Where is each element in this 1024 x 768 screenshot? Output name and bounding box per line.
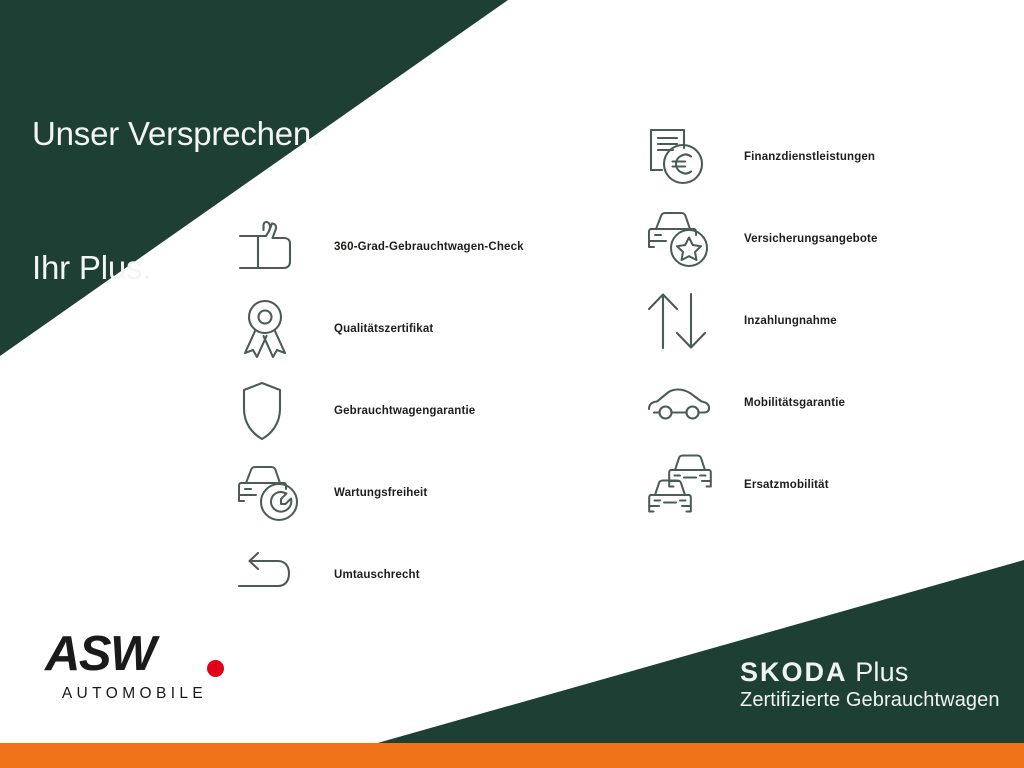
feature-label: Mobilitätsgarantie (722, 397, 845, 409)
asw-wordmark-text: ASW (45, 627, 155, 681)
feature-list-right: Finanzdienstleistungen Versicherungsange… (646, 116, 878, 526)
feature-item-wartungsfreiheit: Wartungsfreiheit (236, 452, 524, 534)
feature-label: Versicherungsangebote (722, 233, 878, 245)
skoda-plus-text: Plus (848, 657, 909, 687)
asw-red-dot-icon (207, 660, 224, 677)
feature-item-umtauschrecht: Umtauschrecht (236, 534, 524, 616)
feature-item-inzahlungnahme: Inzahlungnahme (646, 280, 878, 362)
feature-list-left: 360-Grad-Gebrauchtwagen-Check Qualitätsz… (236, 206, 524, 616)
skoda-plus-logo: SKODA Plus Zertifizierte Gebrauchtwagen (740, 658, 1000, 711)
feature-label: Umtauschrecht (312, 569, 420, 581)
asw-logo: ASW AUTOMOBILE (45, 630, 220, 703)
car-star-icon (646, 204, 722, 274)
document-euro-icon (646, 122, 722, 192)
side-car-icon (646, 368, 722, 438)
feature-label: Inzahlungnahme (722, 315, 837, 327)
two-cars-icon (646, 450, 722, 520)
award-rosette-icon (236, 294, 312, 364)
feature-item-mobilitaetsgarantie: Mobilitätsgarantie (646, 362, 878, 444)
feature-label: Finanzdienstleistungen (722, 151, 875, 163)
feature-label: Ersatzmobilität (722, 479, 829, 491)
feature-item-versicherungsangebote: Versicherungsangebote (646, 198, 878, 280)
asw-wordmark: ASW (45, 630, 220, 679)
feature-label: Qualitätszertifikat (312, 323, 433, 335)
feature-item-qualitaetszertifikat: Qualitätszertifikat (236, 288, 524, 370)
feature-label: Wartungsfreiheit (312, 487, 427, 499)
skoda-brand-text: SKODA (740, 657, 848, 687)
orange-footer-bar (0, 743, 1024, 768)
shield-icon (236, 376, 312, 446)
feature-item-ersatzmobilitaet: Ersatzmobilität (646, 444, 878, 526)
return-arrow-icon (236, 540, 312, 610)
headline-line-1: Unser Versprechen. (32, 112, 320, 157)
promo-banner: Unser Versprechen. Ihr Plus. 360-Grad-Ge… (0, 0, 1024, 768)
car-wrench-icon (236, 458, 312, 528)
skoda-plus-line: SKODA Plus (740, 658, 1000, 686)
up-down-arrows-icon (646, 286, 722, 356)
feature-item-360-grad-check: 360-Grad-Gebrauchtwagen-Check (236, 206, 524, 288)
thumbs-up-icon (236, 212, 312, 282)
feature-item-finanzdienstleistungen: Finanzdienstleistungen (646, 116, 878, 198)
feature-item-gebrauchtwagengarantie: Gebrauchtwagengarantie (236, 370, 524, 452)
feature-label: Gebrauchtwagengarantie (312, 405, 475, 417)
asw-subtitle: AUTOMOBILE (45, 685, 220, 703)
skoda-tagline: Zertifizierte Gebrauchtwagen (740, 689, 1000, 711)
feature-label: 360-Grad-Gebrauchtwagen-Check (312, 241, 524, 253)
